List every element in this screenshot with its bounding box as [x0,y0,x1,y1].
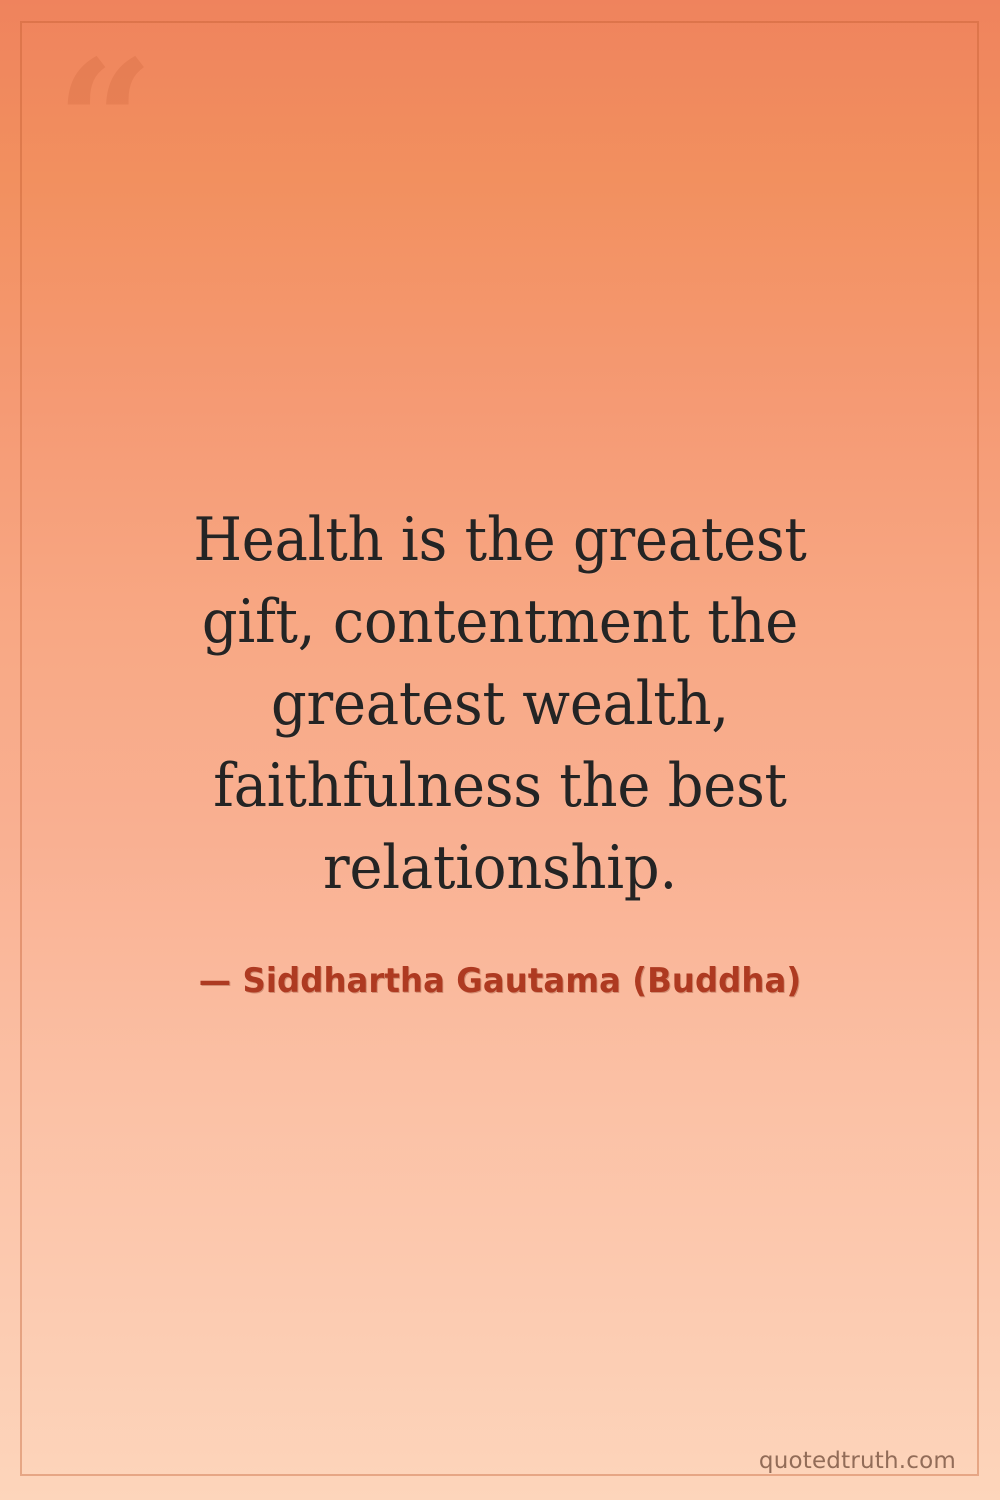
quote-content-block: Health is the greatest gift, contentment… [0,0,1000,1500]
quote-attribution: — Siddhartha Gautama (Buddha) [130,961,871,1001]
quote-text: Health is the greatest gift, contentment… [137,499,862,910]
quote-poster: “ Health is the greatest gift, contentme… [0,0,1000,1500]
site-watermark: quotedtruth.com [759,1448,956,1474]
